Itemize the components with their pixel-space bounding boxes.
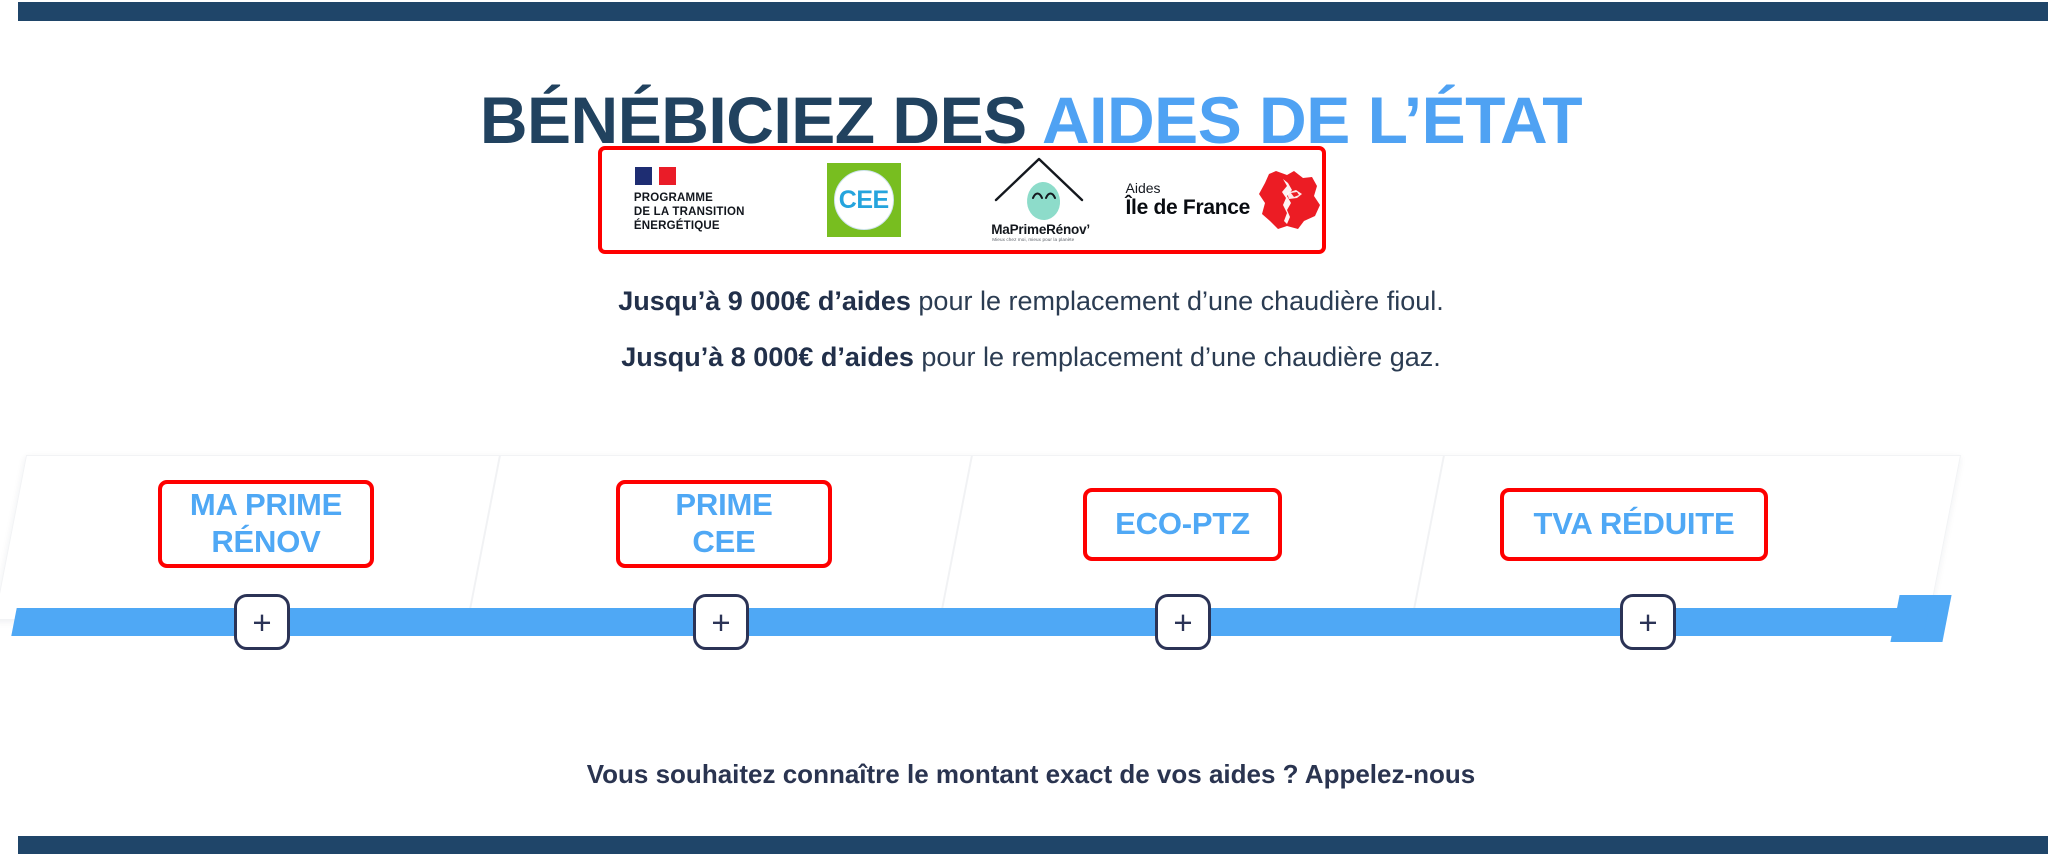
- programme-transition-energetique-logo: PROGRAMME DE LA TRANSITION ÉNERGÉTIQUE: [634, 167, 745, 233]
- subline-fioul-amount: Jusqu’à 9 000€ d’aides: [618, 286, 911, 316]
- panel-divider: [467, 456, 501, 619]
- logo-cell-maprimerenov: MaPrimeRénov’ Mieux chez moi, mieux pour…: [951, 150, 1126, 250]
- maprimerenov-logo: MaPrimeRénov’ Mieux chez moi, mieux pour…: [963, 154, 1113, 246]
- logo-cell-programme-transition-energetique: PROGRAMME DE LA TRANSITION ÉNERGÉTIQUE: [602, 150, 777, 250]
- expand-button-prime-cee[interactable]: +: [693, 594, 749, 650]
- top-accent-bar: [18, 2, 2048, 21]
- subline-gaz-rest: pour le remplacement d’une chaudière gaz…: [914, 342, 1441, 372]
- aide-card-prime-cee[interactable]: PRIME CEE: [616, 480, 832, 568]
- aide-card-tva-reduite[interactable]: TVA RÉDUITE: [1500, 488, 1768, 561]
- aide-card-ma-prime-renov[interactable]: MA PRIME RÉNOV: [158, 480, 374, 568]
- aides-ile-de-france-logo: Aides Île de France: [1126, 169, 1323, 231]
- idf-big-label: Île de France: [1126, 197, 1251, 219]
- subline-gaz-amount: Jusqu’à 8 000€ d’aides: [621, 342, 914, 372]
- contact-prompt: Vous souhaitez connaître le montant exac…: [0, 759, 2062, 790]
- smiling-eyes-icon: [1032, 191, 1056, 200]
- cee-inner-circle: CEE: [834, 170, 894, 230]
- subline-fioul-rest: pour le remplacement d’une chaudière fio…: [911, 286, 1444, 316]
- cee-logo: CEE: [827, 163, 901, 237]
- idf-text-block: Aides Île de France: [1126, 181, 1251, 219]
- expand-button-tva-reduite[interactable]: +: [1620, 594, 1676, 650]
- partner-logos-strip: PROGRAMME DE LA TRANSITION ÉNERGÉTIQUE C…: [598, 146, 1326, 254]
- page-title: BÉNÉBICIEZ DES AIDES DE L’ÉTAT: [0, 87, 2062, 153]
- subline-fioul: Jusqu’à 9 000€ d’aides pour le remplacem…: [0, 286, 2062, 317]
- panel-divider: [939, 456, 973, 619]
- subline-gaz: Jusqu’à 8 000€ d’aides pour le remplacem…: [0, 342, 2062, 373]
- logo-cell-cee: CEE: [777, 150, 952, 250]
- french-flag-icon: [635, 167, 676, 185]
- bottom-accent-bar: [18, 836, 2048, 854]
- idf-small-label: Aides: [1126, 181, 1161, 196]
- maprimerenov-tagline: Mieux chez moi, mieux pour la planète: [992, 237, 1074, 242]
- panel-divider: [1411, 456, 1445, 619]
- logo-cell-aides-ile-de-france: Aides Île de France: [1126, 150, 1323, 250]
- cee-label: CEE: [839, 188, 889, 213]
- ile-de-france-map-icon: [1256, 169, 1322, 231]
- expand-button-eco-ptz[interactable]: +: [1155, 594, 1211, 650]
- aide-card-eco-ptz[interactable]: ECO-PTZ: [1083, 488, 1282, 561]
- maprimerenov-wordmark: MaPrimeRénov’: [991, 222, 1090, 237]
- programme-transition-energetique-label: PROGRAMME DE LA TRANSITION ÉNERGÉTIQUE: [634, 191, 745, 233]
- aides-ribbon: MA PRIME RÉNOV PRIME CEE ECO-PTZ TVA RÉD…: [0, 440, 2062, 660]
- expand-button-ma-prime-renov[interactable]: +: [234, 594, 290, 650]
